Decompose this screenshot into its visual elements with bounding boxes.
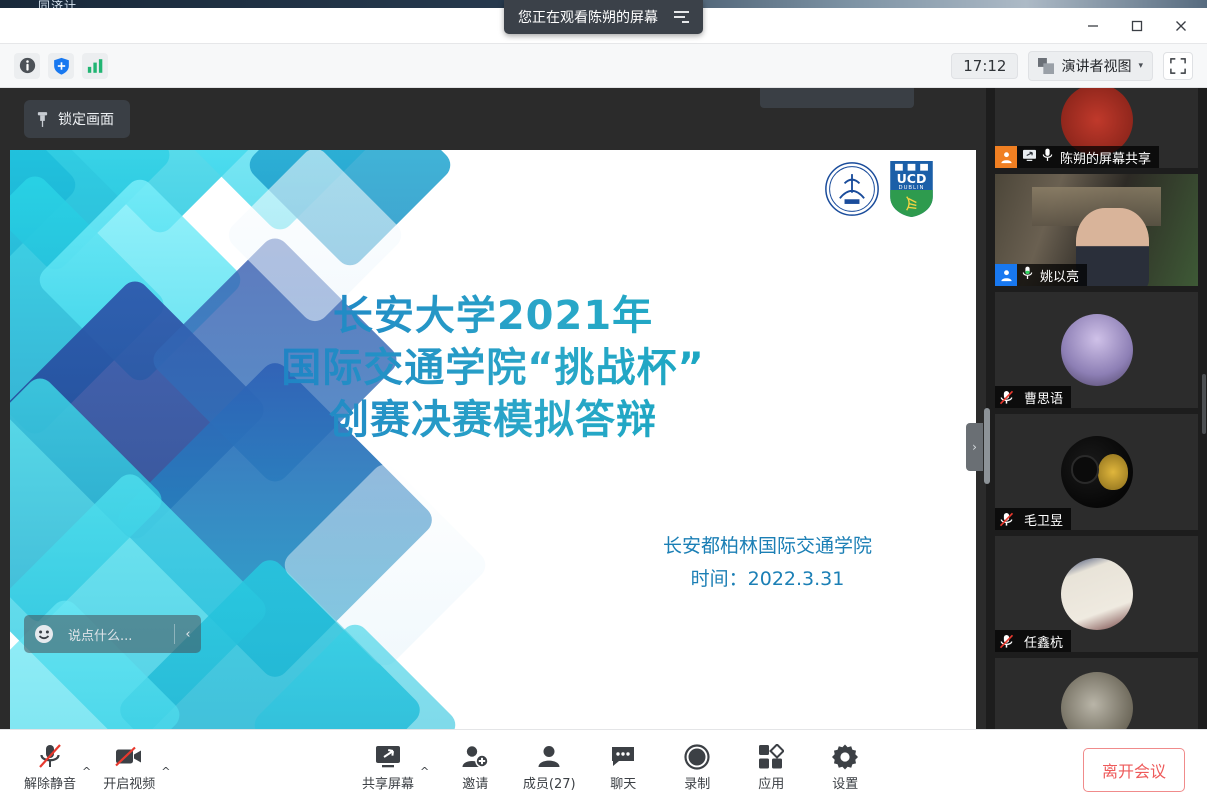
slide-title-line-2: 国际交通学院“挑战杯” [10,342,976,394]
participant-name: 陈朔的屏幕共享 [1058,148,1151,167]
participant-tile[interactable]: 任鑫杭 [995,536,1198,652]
participant-strip[interactable]: 陈朔的屏幕共享 姚以亮 [986,88,1207,729]
invite-label: 邀请 [462,773,488,792]
participant-namebar: 毛卫昱 [995,508,1071,530]
avatar [1061,314,1133,386]
toolbar-center-group: 共享屏幕 ^ 邀请 成员(27) 聊天 [360,736,873,798]
window-controls [1071,8,1203,44]
participant-name: 曹思语 [1022,388,1063,407]
slide-title: 长安大学2021年 国际交通学院“挑战杯” 创赛决赛模拟答辩 [10,290,976,446]
svg-text:UCD: UCD [897,171,927,186]
meeting-window: 您正在观看陈朔的屏幕 17:12 演讲者视图 ▾ [0,8,1207,803]
close-button[interactable] [1159,8,1203,44]
apps-grid-icon [758,742,784,770]
share-screen-label: 共享屏幕 [362,773,414,792]
comment-input-bar[interactable]: 说点什么... ‹ [24,615,201,653]
participants-icon [536,742,562,770]
sidebar-scrollbar[interactable] [1202,374,1206,434]
participant-tile[interactable]: 曹思语 [995,292,1198,408]
invite-button[interactable]: 邀请 [447,736,503,798]
presentation-slide[interactable]: UCD DUBLIN 长安大学2021年 国际交通学院“挑战杯” 创赛决赛模拟答… [10,150,976,784]
chevron-left-icon[interactable]: ‹ [175,627,201,642]
video-person [1076,208,1149,286]
changan-university-logo [824,161,880,217]
participant-name: 任鑫杭 [1022,632,1063,651]
stage-topbar: 锁定画面 [0,88,986,150]
mic-off-icon [995,386,1017,408]
participant-tile[interactable]: ⌄ [995,658,1198,729]
participants-label: 成员(27) [523,773,576,792]
mic-on-icon [1042,148,1053,166]
meeting-clock: 17:12 [951,53,1018,79]
meeting-body: 锁定画面 [0,88,1207,729]
participant-badge-icon [995,264,1017,286]
view-mode-label: 演讲者视图 [1061,56,1131,76]
share-screen-button[interactable]: 共享屏幕 [360,736,416,798]
apps-label: 应用 [758,773,784,792]
svg-text:DUBLIN: DUBLIN [899,185,925,191]
chat-button[interactable]: 聊天 [595,736,651,798]
hamburger-icon[interactable] [668,7,695,27]
participant-name: 毛卫昱 [1022,510,1063,529]
participant-namebar: 曹思语 [995,386,1071,408]
leave-meeting-button[interactable]: 离开会议 [1083,748,1185,792]
info-icon[interactable] [14,53,40,79]
minimize-button[interactable] [1071,8,1115,44]
chat-label: 聊天 [610,773,636,792]
gear-icon [832,742,858,770]
chat-bubble-icon [610,742,636,770]
unmute-button[interactable]: 解除静音 [22,736,78,798]
share-options-caret[interactable]: ^ [420,765,429,798]
slide-logos: UCD DUBLIN [824,160,934,218]
maximize-button[interactable] [1115,8,1159,44]
slide-title-line-3: 创赛决赛模拟答辩 [10,394,976,446]
mic-on-icon [1022,266,1033,284]
settings-label: 设置 [832,773,858,792]
settings-button[interactable]: 设置 [817,736,873,798]
chevron-down-icon: ▾ [1138,61,1143,71]
start-video-button[interactable]: 开启视频 [101,736,157,798]
ucd-dublin-logo: UCD DUBLIN [889,160,934,218]
participant-namebar: 任鑫杭 [995,630,1071,652]
shared-screen-stage: 锁定画面 [0,88,986,729]
host-badge-icon [995,146,1017,168]
chevron-down-icon[interactable]: ⌄ [1089,719,1104,729]
slide-title-line-1: 长安大学2021年 [10,290,976,342]
slide-subtitle: 长安都柏林国际交通学院 时间：2022.3.31 [663,530,872,597]
participant-namebar: 姚以亮 [995,264,1087,286]
unmute-label: 解除静音 [24,773,76,792]
view-mode-selector[interactable]: 演讲者视图 ▾ [1028,51,1153,81]
participants-button[interactable]: 成员(27) [521,736,577,798]
lock-screen-button[interactable]: 锁定画面 [24,100,130,138]
participant-tile[interactable]: 陈朔的屏幕共享 [995,88,1198,168]
start-video-label: 开启视频 [103,773,155,792]
video-off-icon [114,742,144,770]
audio-options-caret[interactable]: ^ [82,765,91,798]
stage-scrollbar[interactable] [984,408,990,484]
smiley-icon[interactable] [24,624,64,644]
video-options-caret[interactable]: ^ [161,765,170,798]
pin-icon [36,111,49,128]
avatar [1061,558,1133,630]
comment-placeholder[interactable]: 说点什么... [64,625,174,644]
screen-share-icon [374,742,402,770]
security-shield-icon[interactable] [48,53,74,79]
watching-screen-banner[interactable]: 您正在观看陈朔的屏幕 [504,0,703,34]
sidebar-collapse-handle[interactable]: › [966,423,983,471]
fullscreen-icon[interactable] [1163,52,1193,80]
toolbar-left-group: 解除静音 ^ 开启视频 ^ [0,736,170,798]
slide-date: 时间：2022.3.31 [663,563,872,596]
avatar [1061,436,1133,508]
screen-share-icon [1022,149,1037,166]
lock-screen-label: 锁定画面 [58,109,114,129]
invite-person-icon [461,742,489,770]
network-stats-icon[interactable] [82,53,108,79]
participant-namebar: 陈朔的屏幕共享 [995,146,1159,168]
mic-muted-icon [37,742,63,770]
participant-tile[interactable]: 姚以亮 [995,174,1198,286]
meeting-toolbar: 解除静音 ^ 开启视频 ^ 共享屏幕 ^ [0,729,1207,803]
participant-name: 姚以亮 [1038,266,1079,285]
sub-toolbar: 17:12 演讲者视图 ▾ [0,44,1207,88]
apps-button[interactable]: 应用 [743,736,799,798]
mic-off-icon [995,508,1017,530]
participant-tile[interactable]: 毛卫昱 [995,414,1198,530]
slide-org: 长安都柏林国际交通学院 [663,530,872,563]
watching-screen-label: 您正在观看陈朔的屏幕 [518,7,658,27]
record-icon [684,742,710,770]
stage-ghost-bar [760,88,914,108]
record-label: 录制 [684,773,710,792]
record-button[interactable]: 录制 [669,736,725,798]
speaker-view-icon [1038,58,1054,74]
mic-off-icon [995,630,1017,652]
sub-toolbar-right: 17:12 演讲者视图 ▾ [951,51,1193,81]
